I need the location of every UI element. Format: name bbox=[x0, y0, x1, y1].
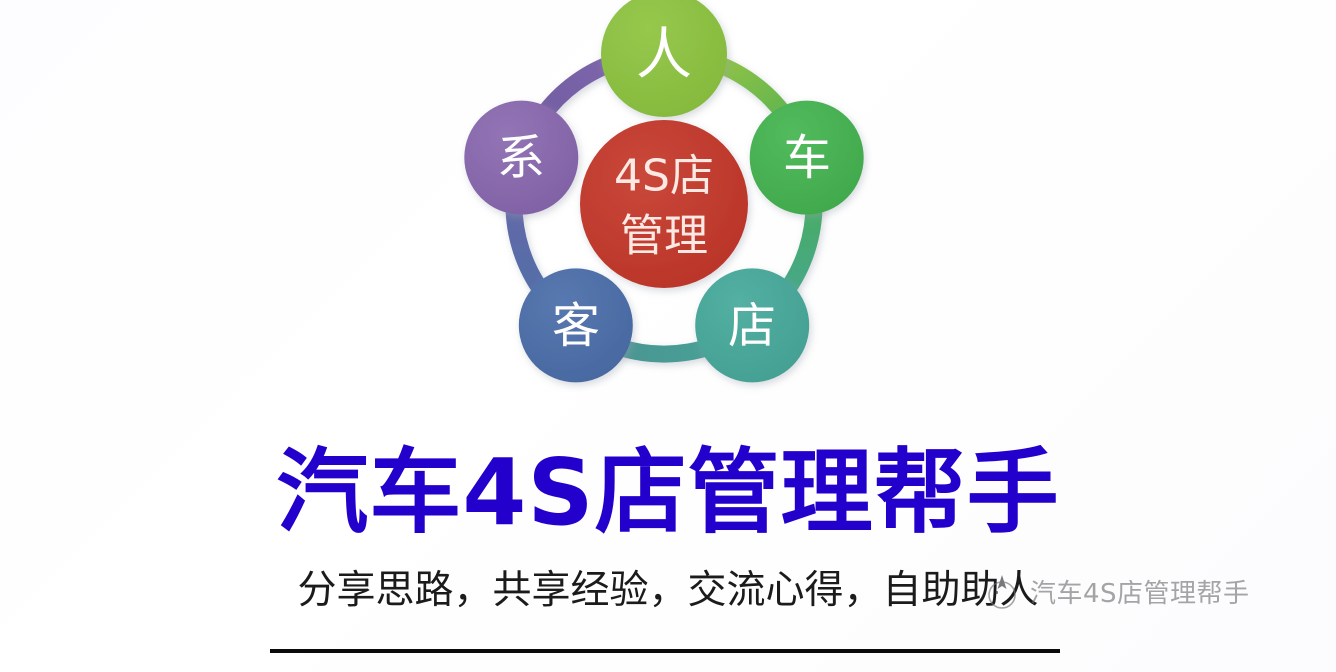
node-label-customer: 客 bbox=[552, 298, 600, 354]
watermark-label: 汽车4S店管理帮手 bbox=[1030, 573, 1250, 610]
center-circle bbox=[580, 120, 748, 288]
page-title: 汽车4S店管理帮手 bbox=[0, 444, 1336, 542]
node-label-system: 系 bbox=[497, 130, 545, 186]
person-circle-logo-icon bbox=[983, 572, 1021, 610]
watermark: 汽车4S店管理帮手 bbox=[983, 572, 1250, 610]
center-label-line1: 4S店 bbox=[614, 151, 714, 202]
divider bbox=[270, 649, 1060, 653]
node-label-car: 车 bbox=[783, 130, 831, 186]
node-label-people: 人 bbox=[636, 23, 692, 88]
center-label-line2: 管理 bbox=[620, 211, 708, 262]
circle-diagram: 人 车 店 客 系 4S店 管理 bbox=[398, 0, 946, 444]
poster-canvas: 人 车 店 客 系 4S店 管理 汽车4S店管理帮手 分享思路，共享经验，交流心… bbox=[0, 0, 1336, 672]
node-label-store: 店 bbox=[728, 298, 776, 354]
